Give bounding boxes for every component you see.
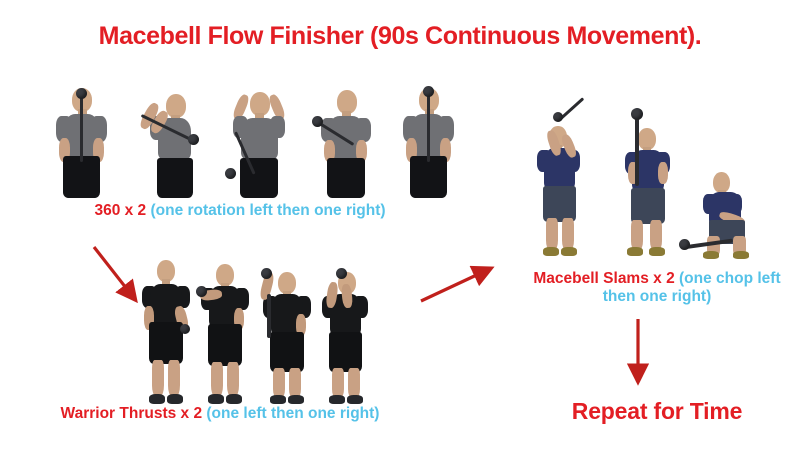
arrow-360-to-warrior [85, 235, 155, 315]
athlete-figure-slams-2 [614, 108, 676, 260]
infographic-canvas: Macebell Flow Finisher (90s Continuous M… [0, 0, 800, 457]
caption-360: 360 x 2 (one rotation left then one righ… [40, 202, 440, 220]
athlete-figure-360-4 [313, 86, 377, 198]
caption-warrior-thrusts: Warrior Thrusts x 2 (one left then one r… [55, 405, 385, 423]
caption-360-detail: (one rotation left then one right) [150, 202, 385, 219]
arrow-slams-to-repeat [625, 315, 655, 390]
athlete-figure-warrior-3 [258, 260, 312, 406]
athlete-figure-slams-3 [697, 108, 763, 260]
figure-group-macebell-slams [535, 105, 763, 260]
athlete-figure-360-5 [399, 86, 457, 198]
caption-warrior-detail: (one left then one right) [206, 405, 379, 422]
athlete-figure-360-1 [52, 86, 110, 198]
caption-360-exercise: 360 x 2 [94, 202, 150, 219]
figure-group-warrior-thrusts [140, 258, 370, 406]
arrow-warrior-to-slams [415, 255, 505, 315]
caption-macebell-slams: Macebell Slams x 2 (one chop left then o… [528, 270, 786, 307]
caption-warrior-exercise: Warrior Thrusts x 2 [61, 405, 207, 422]
page-title: Macebell Flow Finisher (90s Continuous M… [0, 22, 800, 51]
figure-group-360 [52, 80, 457, 198]
athlete-figure-360-2 [132, 86, 204, 198]
athlete-figure-360-3 [226, 86, 292, 198]
athlete-figure-slams-1 [535, 108, 593, 260]
athlete-figure-warrior-2 [198, 260, 252, 406]
repeat-for-time-label: Repeat for Time [528, 398, 786, 425]
caption-slams-exercise: Macebell Slams x 2 [533, 270, 679, 287]
athlete-figure-warrior-4 [318, 260, 370, 406]
